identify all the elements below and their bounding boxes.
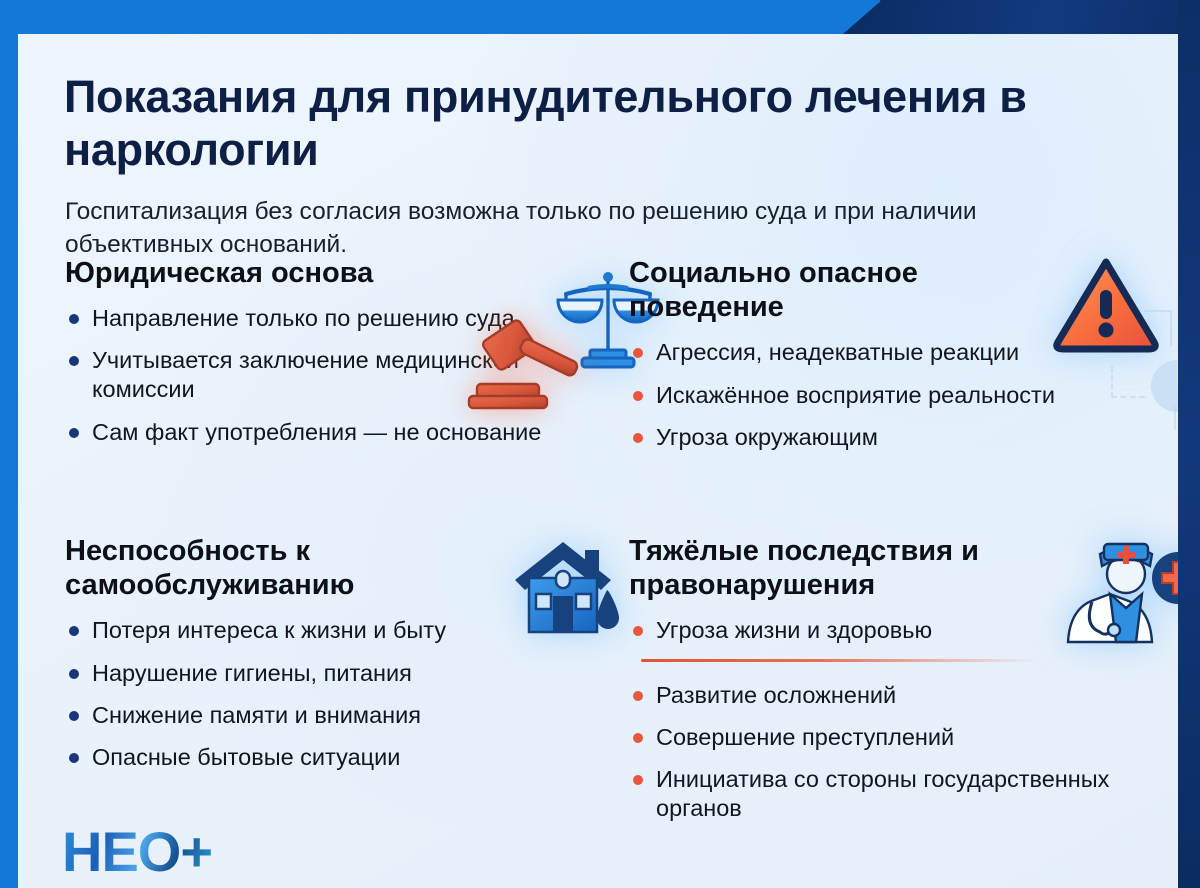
block-socially-dangerous-behaviour: Социально опасное поведение Агрессия, не… bbox=[629, 256, 1178, 465]
left-blue-border bbox=[0, 0, 18, 888]
list-item: Искажённое восприятие реальности bbox=[629, 381, 1178, 410]
gavel-icon bbox=[465, 304, 585, 419]
infographic-poster: Показания для принудительного лечения в … bbox=[0, 0, 1200, 888]
list-item: Снижение памяти и внимания bbox=[65, 701, 625, 730]
list-item: Сам факт употребления — не основание bbox=[65, 418, 625, 447]
brand-logo[interactable]: НЕО+ bbox=[62, 824, 212, 880]
block-legal-basis: Юридическая основа Направление только по… bbox=[65, 256, 625, 460]
list-item: Инициатива со стороны государственных ор… bbox=[629, 765, 1178, 823]
corner-bracket-decoration-icon bbox=[1144, 310, 1172, 346]
poster-content-sheet: Показания для принудительного лечения в … bbox=[18, 34, 1178, 888]
list-item: Совершение преступлений bbox=[629, 723, 1178, 752]
block-heading: Неспособность к самообслуживанию bbox=[65, 534, 495, 602]
list-item: Нарушение гигиены, питания bbox=[65, 659, 625, 688]
block-heading: Юридическая основа bbox=[65, 256, 495, 290]
page-title: Показания для принудительного лечения в … bbox=[64, 71, 1044, 176]
block-heading: Социально опасное поведение bbox=[629, 256, 1049, 324]
right-navy-border bbox=[1178, 0, 1200, 888]
top-blue-border bbox=[0, 0, 880, 34]
list-item: Развитие осложнений bbox=[629, 681, 1178, 710]
block-severe-consequences: Тяжёлые последствия и правонарушения Угр… bbox=[629, 534, 1178, 836]
page-subtitle: Госпитализация без согласия возможна тол… bbox=[65, 195, 1025, 261]
block-self-care-inability: Неспособность к самообслуживанию Потеря … bbox=[65, 534, 625, 785]
red-divider bbox=[641, 659, 1039, 662]
list-item: Угроза окружающим bbox=[629, 423, 1178, 452]
block-heading: Тяжёлые последствия и правонарушения bbox=[629, 534, 1049, 602]
block-bullet-list: Развитие осложнений Совершение преступле… bbox=[629, 681, 1178, 824]
doctor-icon bbox=[1046, 530, 1178, 655]
water-drop-icon bbox=[597, 590, 619, 629]
brand-logo-text: НЕО+ bbox=[62, 820, 212, 883]
dashed-bracket-decoration-icon bbox=[1111, 366, 1145, 398]
list-item: Опасные бытовые ситуации bbox=[65, 743, 625, 772]
tick-decoration-icon bbox=[1174, 406, 1176, 430]
house-icon bbox=[507, 538, 627, 653]
